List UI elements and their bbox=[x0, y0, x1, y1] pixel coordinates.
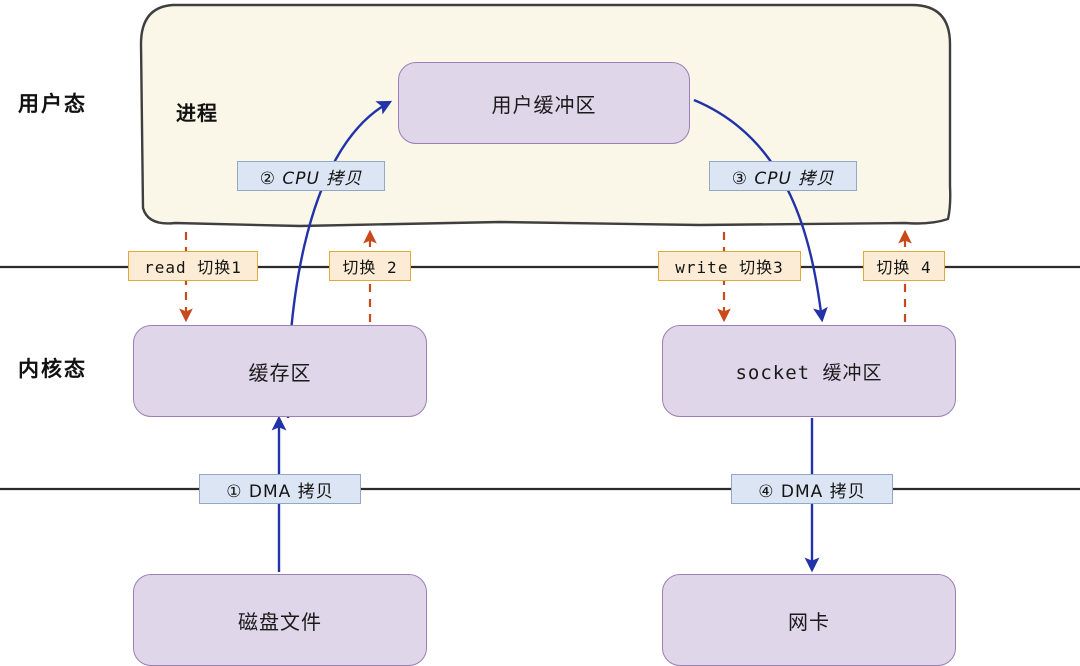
chip-cpu-copy-2[interactable]: ② CPU 拷贝 bbox=[237, 161, 385, 191]
chip-switch-1-label: read 切换1 bbox=[144, 254, 242, 278]
chip-switch-2-label: 切换 2 bbox=[342, 254, 397, 278]
node-socket-buffer[interactable]: socket 缓冲区 bbox=[662, 325, 956, 417]
chip-cpu-copy-2-label: ② CPU 拷贝 bbox=[260, 164, 363, 189]
chip-dma-copy-4-label: ④ DMA 拷贝 bbox=[758, 477, 865, 502]
chip-switch-1[interactable]: read 切换1 bbox=[128, 251, 258, 281]
chip-switch-4-label: 切换 4 bbox=[876, 254, 931, 278]
node-user-buffer[interactable]: 用户缓冲区 bbox=[398, 62, 690, 144]
node-disk-file-label: 磁盘文件 bbox=[238, 606, 322, 635]
chip-switch-3[interactable]: write 切换3 bbox=[658, 251, 801, 281]
chip-dma-copy-1[interactable]: ① DMA 拷贝 bbox=[199, 474, 361, 504]
diagram-canvas: 用户态 内核态 进程 用户缓冲区 缓存区 socket 缓冲区 磁盘文件 网卡 … bbox=[0, 0, 1080, 666]
node-network-card-label: 网卡 bbox=[788, 606, 830, 635]
node-socket-buffer-label: socket 缓冲区 bbox=[735, 358, 882, 385]
chip-switch-3-label: write 切换3 bbox=[675, 254, 783, 278]
chip-dma-copy-1-label: ① DMA 拷贝 bbox=[226, 477, 333, 502]
chip-switch-4[interactable]: 切换 4 bbox=[863, 251, 945, 281]
process-title: 进程 bbox=[176, 97, 218, 126]
chip-cpu-copy-3-label: ③ CPU 拷贝 bbox=[732, 164, 835, 189]
node-cache-buffer-label: 缓存区 bbox=[249, 357, 312, 386]
mode-label-kernel: 内核态 bbox=[18, 353, 87, 383]
chip-cpu-copy-3[interactable]: ③ CPU 拷贝 bbox=[709, 161, 857, 191]
chip-dma-copy-4[interactable]: ④ DMA 拷贝 bbox=[731, 474, 893, 504]
node-network-card[interactable]: 网卡 bbox=[662, 574, 956, 666]
node-user-buffer-label: 用户缓冲区 bbox=[492, 89, 597, 118]
mode-label-user: 用户态 bbox=[18, 88, 87, 118]
node-cache-buffer[interactable]: 缓存区 bbox=[133, 325, 427, 417]
node-disk-file[interactable]: 磁盘文件 bbox=[133, 574, 427, 666]
chip-switch-2[interactable]: 切换 2 bbox=[329, 251, 411, 281]
